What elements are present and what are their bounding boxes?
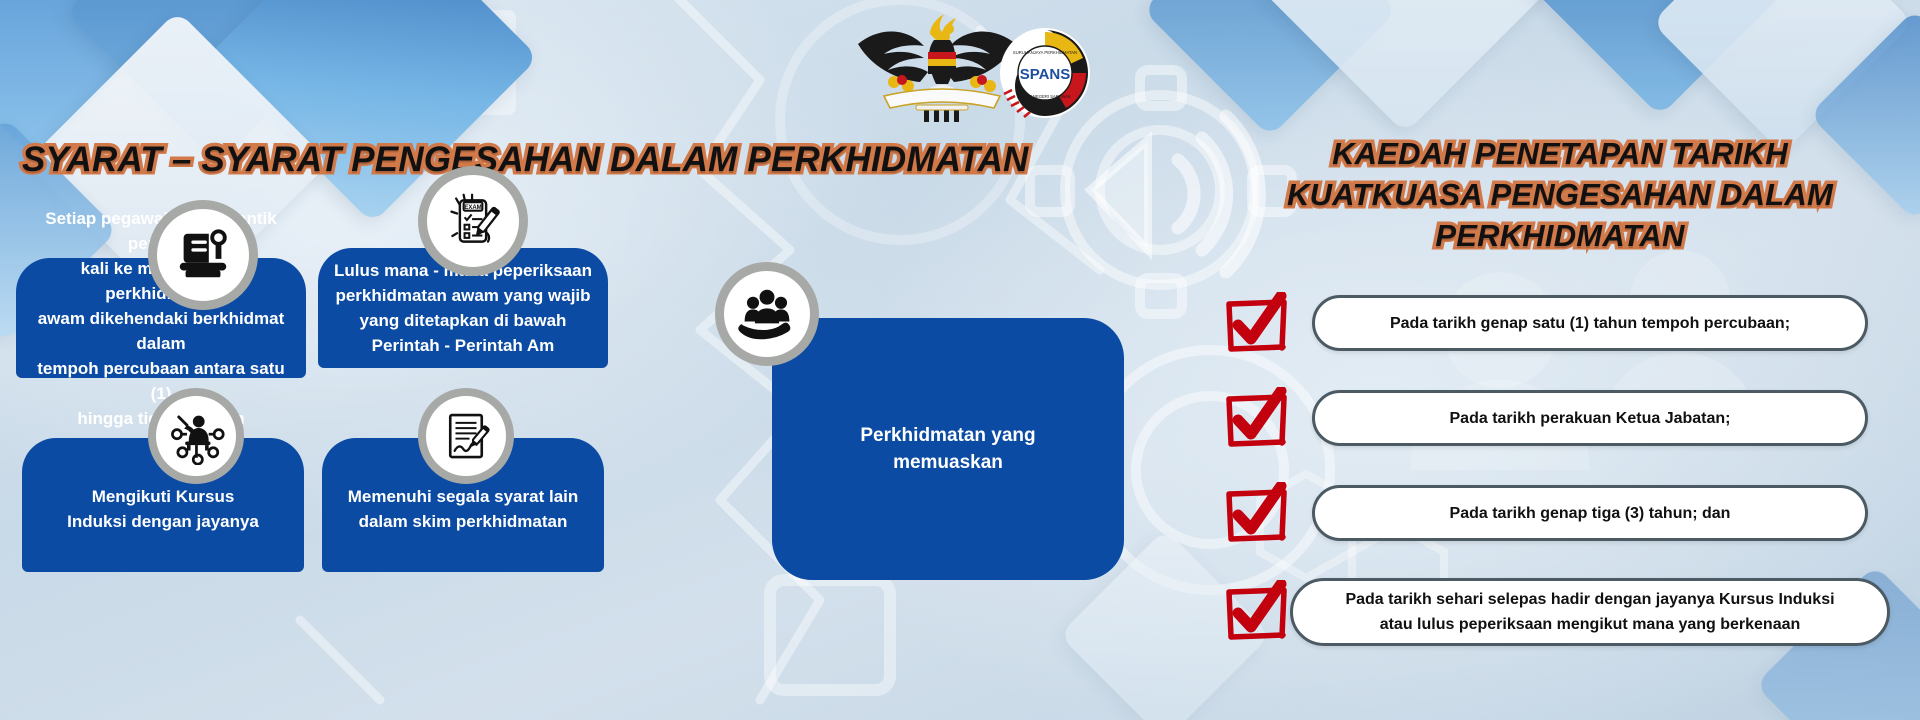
checklist-item-3: Pada tarikh genap tiga (3) tahun; dan <box>1312 485 1868 541</box>
checklist-checkbox-4 <box>1223 580 1289 642</box>
training-presenter-icon <box>167 407 225 465</box>
spans-logo-text: SPANS <box>1020 66 1071 83</box>
checklist-item-1: Pada tarikh genap satu (1) tahun tempoh … <box>1312 295 1868 351</box>
condition-icon-5 <box>715 262 819 366</box>
checklist-checkbox-1 <box>1223 292 1289 354</box>
page-title-left: SYARAT – SYARAT PENGESAHAN DALAM PERKHID… <box>22 140 1029 180</box>
condition-icon-4 <box>418 388 514 484</box>
page-title-right: KAEDAH PENETAPAN TARIKH KUATKUASA PENGES… <box>1240 133 1880 256</box>
checklist-item-2: Pada tarikh perakuan Ketua Jabatan; <box>1312 390 1868 446</box>
condition-icon-1 <box>148 200 258 310</box>
condition-card-5: Perkhidmatan yang memuaskan <box>772 318 1124 580</box>
svg-text:AWAM NEGERI SARAWAK: AWAM NEGERI SARAWAK <box>1019 94 1071 99</box>
checklist-checkbox-2 <box>1223 387 1289 449</box>
certificate-stamp-icon <box>172 224 234 286</box>
exam-checklist-icon: EXAM <box>443 191 503 251</box>
checklist-checkbox-3 <box>1223 482 1289 544</box>
svg-text:EXAM: EXAM <box>464 205 481 211</box>
hand-holding-people-icon <box>737 286 797 342</box>
signed-document-icon <box>438 408 494 464</box>
condition-icon-2: EXAM <box>418 166 528 276</box>
svg-text:SURUHANJAYA PERKHIDMATAN: SURUHANJAYA PERKHIDMATAN <box>1013 50 1077 55</box>
checklist-item-4: Pada tarikh sehari selepas hadir dengan … <box>1290 578 1890 646</box>
spans-logo-icon: SPANS SURUHANJAYA PERKHIDMATAN AWAM NEGE… <box>1000 28 1090 118</box>
condition-icon-3 <box>148 388 244 484</box>
sarawak-coat-of-arms-icon <box>858 14 1016 122</box>
logo-group: SPANS SURUHANJAYA PERKHIDMATAN AWAM NEGE… <box>850 4 1090 122</box>
